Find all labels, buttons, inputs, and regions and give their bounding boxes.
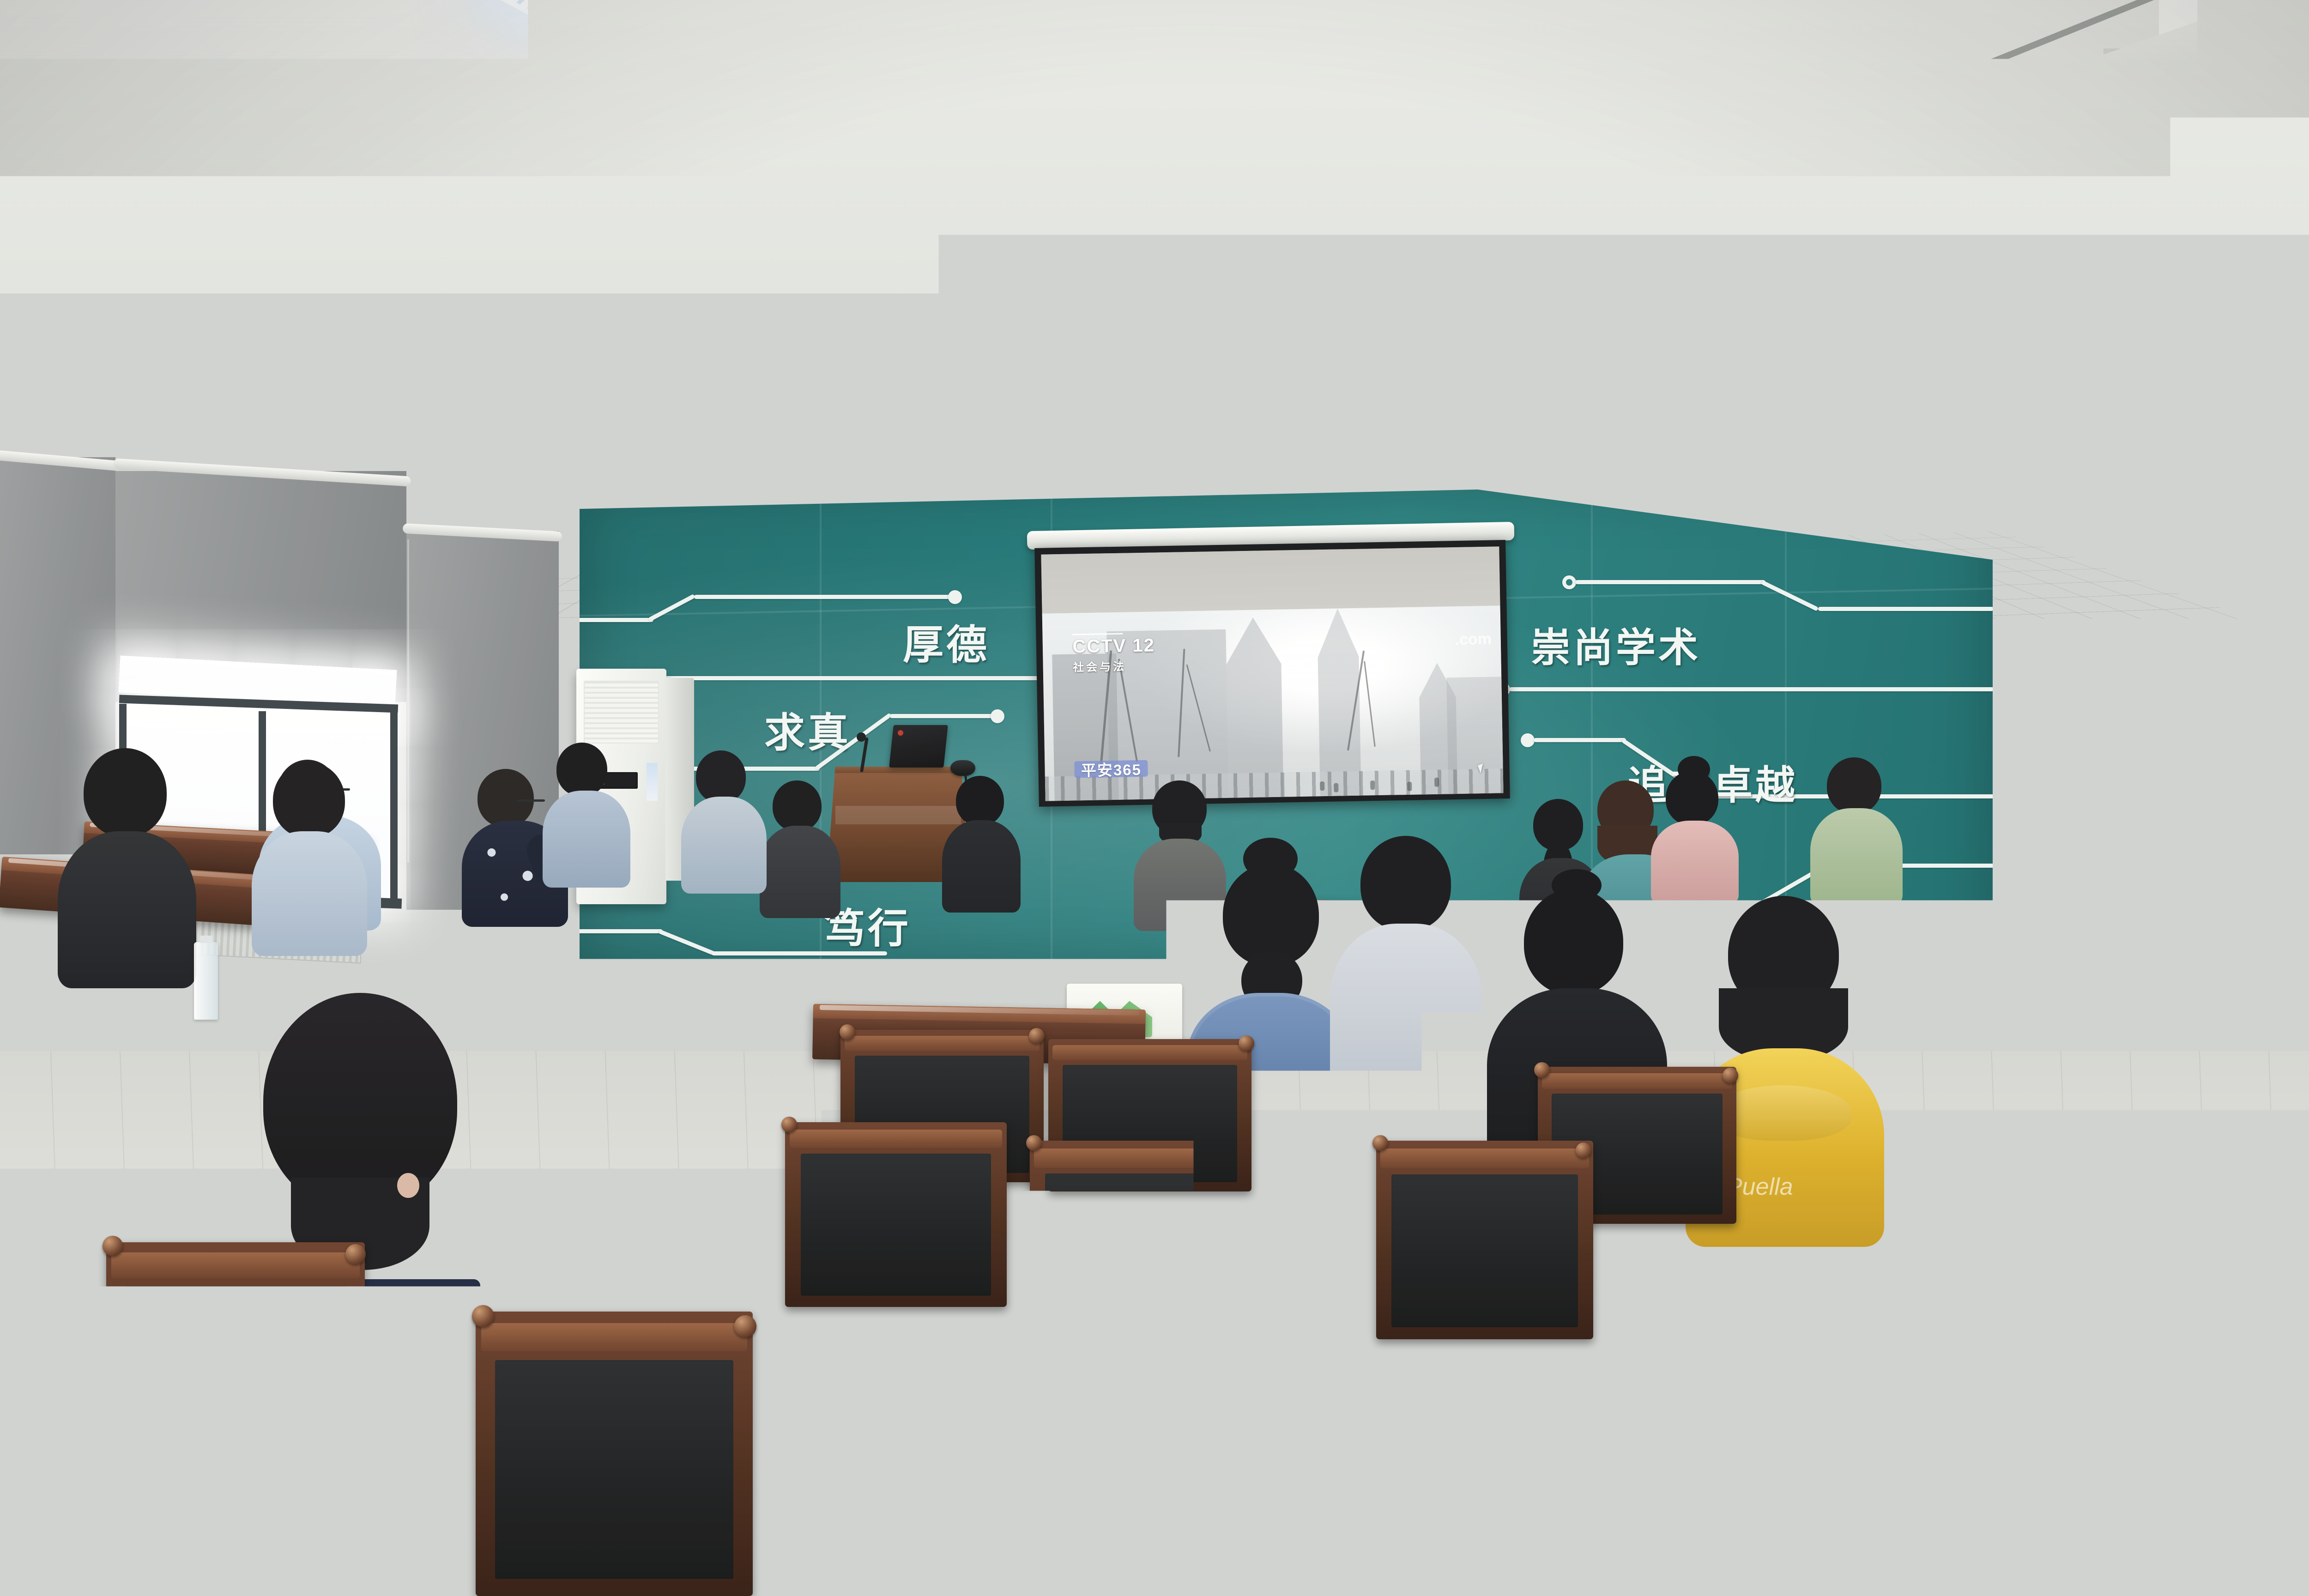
cctv-channel-number: CCTV 12: [1072, 635, 1155, 657]
seat-knob: [103, 1236, 123, 1256]
head: [478, 769, 534, 827]
program-bug: 平安365: [1075, 760, 1148, 778]
fire-sprinkler-icon: [1644, 344, 1651, 357]
seat-knob: [1921, 1167, 1937, 1183]
auditorium-seat: [106, 1242, 365, 1501]
head: [1223, 864, 1319, 966]
seat-knob: [840, 1024, 855, 1040]
ear: [1475, 1228, 1508, 1273]
auditorium-seat: [1686, 1367, 1981, 1596]
head: [273, 762, 345, 838]
ceiling-projector: EPSON: [850, 431, 928, 476]
head: [84, 748, 167, 837]
seat-knob: [1029, 1028, 1045, 1044]
seat-knob: [1681, 1361, 1703, 1384]
audience-member-foreground-man: [1134, 1007, 1623, 1596]
head: [386, 847, 490, 958]
seat-knob: [546, 1089, 562, 1105]
cctv-channel-logo: CCTV 12 社会与法: [1072, 635, 1155, 674]
seat-knob: [1723, 1068, 1738, 1083]
wall-graphic-line: [1509, 687, 1994, 691]
wall-graphic-line: [890, 714, 996, 718]
seat-knob: [345, 1244, 366, 1264]
fire-sprinkler-icon: [416, 388, 423, 402]
lecture-hall-photo: EPSON 厚德 求真 砺学 笃行: [0, 0, 2309, 1596]
seat-knob: [781, 1117, 797, 1132]
pedestrian: [1370, 780, 1375, 790]
seat-knob: [734, 1315, 756, 1337]
cctv-channel-name: 社会与法: [1073, 657, 1155, 674]
cathedral-spire: [1226, 617, 1284, 798]
wall-mounted-speaker-unit: [1875, 230, 1997, 398]
auditorium-seat: [785, 1122, 1007, 1307]
pedestrian: [1320, 781, 1324, 791]
head: [1249, 1007, 1508, 1284]
audience-member: [58, 748, 196, 988]
wall-graphic-node: [1521, 733, 1535, 747]
projector-lens-icon: [910, 440, 924, 467]
ear: [397, 1173, 419, 1198]
wall-graphic-node: [991, 709, 1004, 723]
fire-sprinkler-icon: [171, 99, 178, 117]
audience-member: [252, 762, 367, 956]
head: [1666, 771, 1718, 825]
wall-motto-text: 厚德: [903, 612, 990, 671]
eyeglasses-icon: [516, 799, 545, 802]
head: [1360, 836, 1451, 931]
microphone-capsule-icon: [857, 732, 866, 742]
wall-graphic-node: [948, 590, 962, 604]
wall-graphic-line: [694, 595, 953, 599]
wall-graphic-node: [1562, 575, 1576, 589]
podium-mouse: [950, 760, 975, 776]
blouse-stripe-pattern: [203, 1505, 522, 1593]
head: [956, 776, 1004, 826]
wall-graphic-line: [1818, 607, 1994, 611]
bare-tree-branch: [1364, 661, 1376, 747]
ac-intake-grille: [584, 681, 659, 744]
head: [1524, 889, 1623, 995]
podium-laptop: [891, 725, 946, 768]
head: [696, 829, 779, 917]
wall-graphic-line: [1575, 580, 1765, 584]
auditorium-seat: [476, 1312, 753, 1596]
wall-graphic-line: [1534, 738, 1626, 742]
audience-member: [1651, 764, 1739, 894]
head: [773, 780, 822, 831]
torso: [252, 831, 367, 956]
projection-screen-surface: CCTV 12 社会与法 平安365 .com: [1041, 546, 1503, 801]
ac-control-button[interactable]: [647, 763, 657, 801]
smoke-detector-icon: [829, 261, 865, 282]
broadcast-watermark: .com: [1455, 630, 1492, 649]
auditorium-seat: [1736, 1164, 1940, 1339]
head: [1827, 757, 1881, 814]
wall-motto-text: 崇尚学术: [1531, 615, 1701, 673]
shirt-collar: [1271, 1308, 1486, 1380]
pedestrian: [1334, 783, 1338, 792]
blind-pull-cord: [407, 539, 409, 863]
torso: [1810, 808, 1903, 905]
pedestrian: [1407, 782, 1412, 791]
screen-letterbox-band: [1041, 546, 1500, 613]
projector-mount-rod: [884, 360, 894, 425]
projector-brand-label: EPSON: [856, 448, 886, 457]
head: [696, 750, 746, 803]
auditorium-seat: [550, 1094, 767, 1270]
seat-knob: [748, 1094, 764, 1109]
head: [556, 743, 607, 796]
fire-sprinkler-icon: [1224, 453, 1231, 465]
right-wall-return: [2103, 48, 2159, 1018]
audience-member: [1810, 757, 1903, 901]
projected-video: CCTV 12 社会与法 平安365 .com: [1042, 606, 1504, 801]
seat-knob: [1732, 1159, 1747, 1175]
seat-knob: [472, 1305, 494, 1327]
torso: [58, 831, 196, 988]
pedestrian: [1434, 778, 1439, 787]
seat-knob: [1026, 1135, 1042, 1151]
